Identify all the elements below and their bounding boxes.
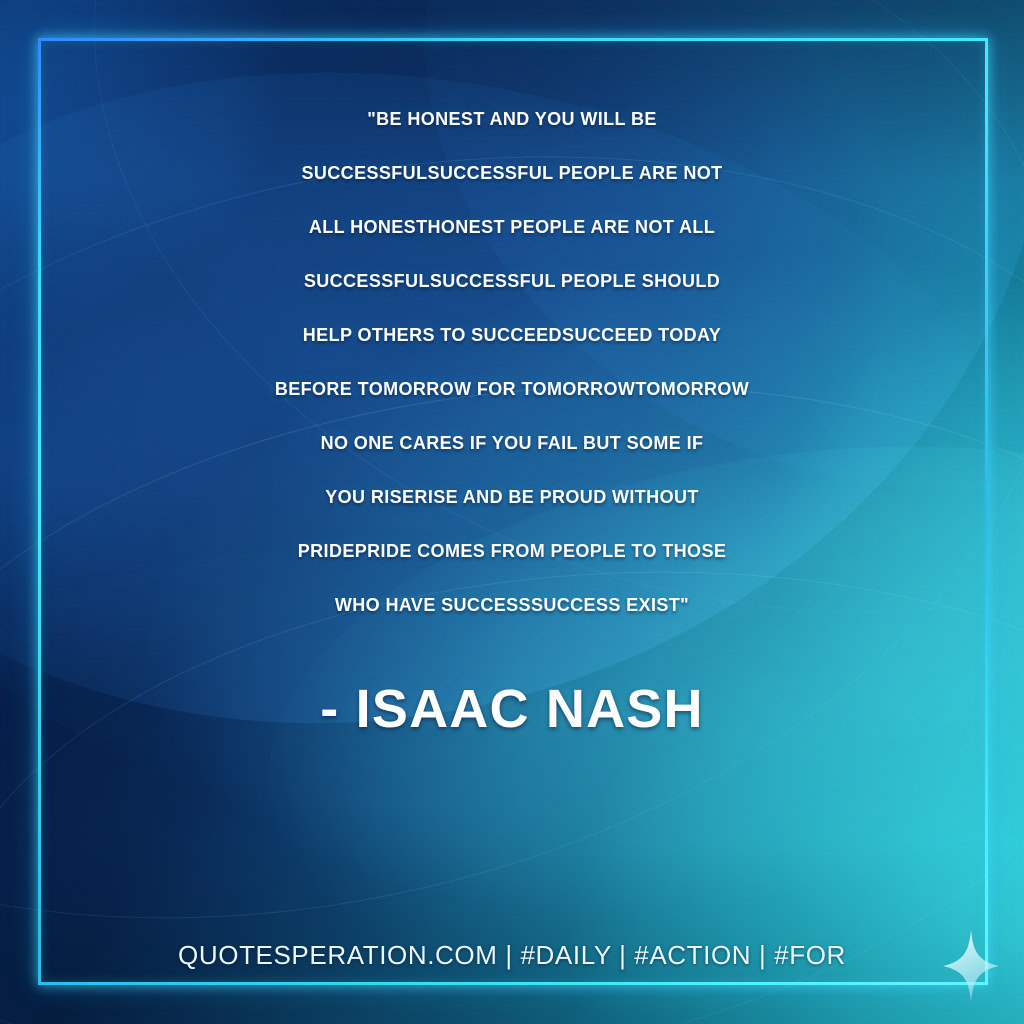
quote-line: WHO HAVE SUCCESSSUCCESS EXIST" [32, 578, 992, 632]
quote-line: PRIDEPRIDE COMES FROM PEOPLE TO THOSE [32, 524, 992, 578]
footer-bar: QUOTESPERATION.COM | #DAILY | #ACTION | … [0, 940, 1024, 971]
poster-content: "BE HONEST AND YOU WILL BE SUCCESSFULSUC… [0, 0, 1024, 1024]
quote-author: - ISAAC NASH [32, 679, 992, 739]
quote-line: ALL HONESTHONEST PEOPLE ARE NOT ALL [32, 200, 992, 254]
quote-line: NO ONE CARES IF YOU FAIL BUT SOME IF [32, 416, 992, 470]
quote-text-block: "BE HONEST AND YOU WILL BE SUCCESSFULSUC… [32, 0, 992, 739]
quote-line: HELP OTHERS TO SUCCEEDSUCCEED TODAY [32, 308, 992, 362]
quote-line: SUCCESSFULSUCCESSFUL PEOPLE SHOULD [32, 254, 992, 308]
quote-line: BEFORE TOMORROW FOR TOMORROWTOMORROW [32, 362, 992, 416]
quote-line: SUCCESSFULSUCCESSFUL PEOPLE ARE NOT [32, 146, 992, 200]
quote-line: YOU RISERISE AND BE PROUD WITHOUT [32, 470, 992, 524]
quote-line: "BE HONEST AND YOU WILL BE [32, 92, 992, 146]
footer-attribution: QUOTESPERATION.COM | #DAILY | #ACTION | … [178, 940, 846, 971]
quote-poster: "BE HONEST AND YOU WILL BE SUCCESSFULSUC… [0, 0, 1024, 1024]
